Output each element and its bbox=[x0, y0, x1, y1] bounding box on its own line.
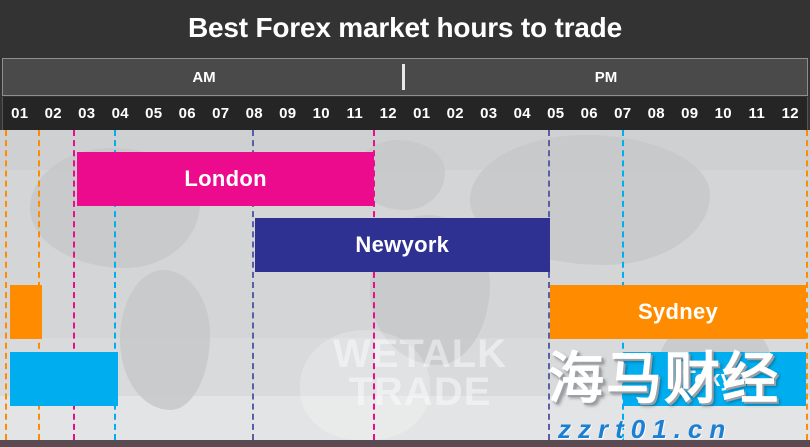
hour-cell-9: 10 bbox=[305, 97, 339, 130]
hour-cell-23: 12 bbox=[774, 97, 808, 130]
hour-cell-5: 06 bbox=[171, 97, 205, 130]
session-label-newyork: Newyork bbox=[255, 232, 550, 258]
session-bar-sydneyearly bbox=[10, 285, 43, 339]
session-bar-london: London bbox=[77, 152, 373, 206]
am-label: AM bbox=[192, 69, 215, 86]
bottom-strip bbox=[0, 440, 810, 447]
title-bar: Best Forex market hours to trade bbox=[0, 0, 810, 56]
hour-cell-22: 11 bbox=[740, 97, 774, 130]
hour-cell-7: 08 bbox=[238, 97, 272, 130]
am-header-cell: AM bbox=[3, 59, 405, 95]
session-bar-tokyo: Tokyo bbox=[623, 352, 806, 406]
session-bar-sydney: Sydney bbox=[550, 285, 806, 339]
pm-label: PM bbox=[595, 69, 618, 86]
session-bar-tokyoearly bbox=[10, 352, 118, 406]
session-bar-newyork: Newyork bbox=[255, 218, 550, 272]
session-label-sydney: Sydney bbox=[550, 299, 806, 325]
ampm-header-row: AM PM bbox=[2, 58, 808, 96]
hour-cell-11: 12 bbox=[372, 97, 406, 130]
hour-cell-14: 03 bbox=[472, 97, 506, 130]
hour-cell-21: 10 bbox=[707, 97, 741, 130]
hour-cell-12: 01 bbox=[405, 97, 439, 130]
map-blob-south-america bbox=[120, 270, 210, 410]
hour-cell-4: 05 bbox=[137, 97, 171, 130]
hour-cell-8: 09 bbox=[271, 97, 305, 130]
hours-header-row: 0102030405060708091011120102030405060708… bbox=[2, 97, 808, 130]
hour-cell-10: 11 bbox=[338, 97, 372, 130]
hour-cell-19: 08 bbox=[640, 97, 674, 130]
hour-cell-2: 03 bbox=[70, 97, 104, 130]
guide-line-sydney-start bbox=[5, 130, 7, 440]
session-label-london: London bbox=[77, 166, 373, 192]
chart-plot-area: WETALK TRADE LondonNewyorkSydneyTokyo bbox=[0, 130, 810, 440]
page-title: Best Forex market hours to trade bbox=[188, 12, 622, 44]
hour-cell-20: 09 bbox=[673, 97, 707, 130]
hour-cell-0: 01 bbox=[3, 97, 37, 130]
pm-header-cell: PM bbox=[405, 59, 807, 95]
hour-cell-13: 02 bbox=[439, 97, 473, 130]
session-label-tokyo: Tokyo bbox=[623, 366, 806, 392]
hour-cell-18: 07 bbox=[606, 97, 640, 130]
hour-cell-1: 02 bbox=[37, 97, 71, 130]
hour-cell-17: 06 bbox=[573, 97, 607, 130]
hour-cell-6: 07 bbox=[204, 97, 238, 130]
hour-cell-15: 04 bbox=[506, 97, 540, 130]
forex-hours-infographic: Best Forex market hours to trade AM PM 0… bbox=[0, 0, 810, 447]
hour-cell-3: 04 bbox=[104, 97, 138, 130]
guide-line-day-end bbox=[806, 130, 808, 440]
hour-cell-16: 05 bbox=[539, 97, 573, 130]
